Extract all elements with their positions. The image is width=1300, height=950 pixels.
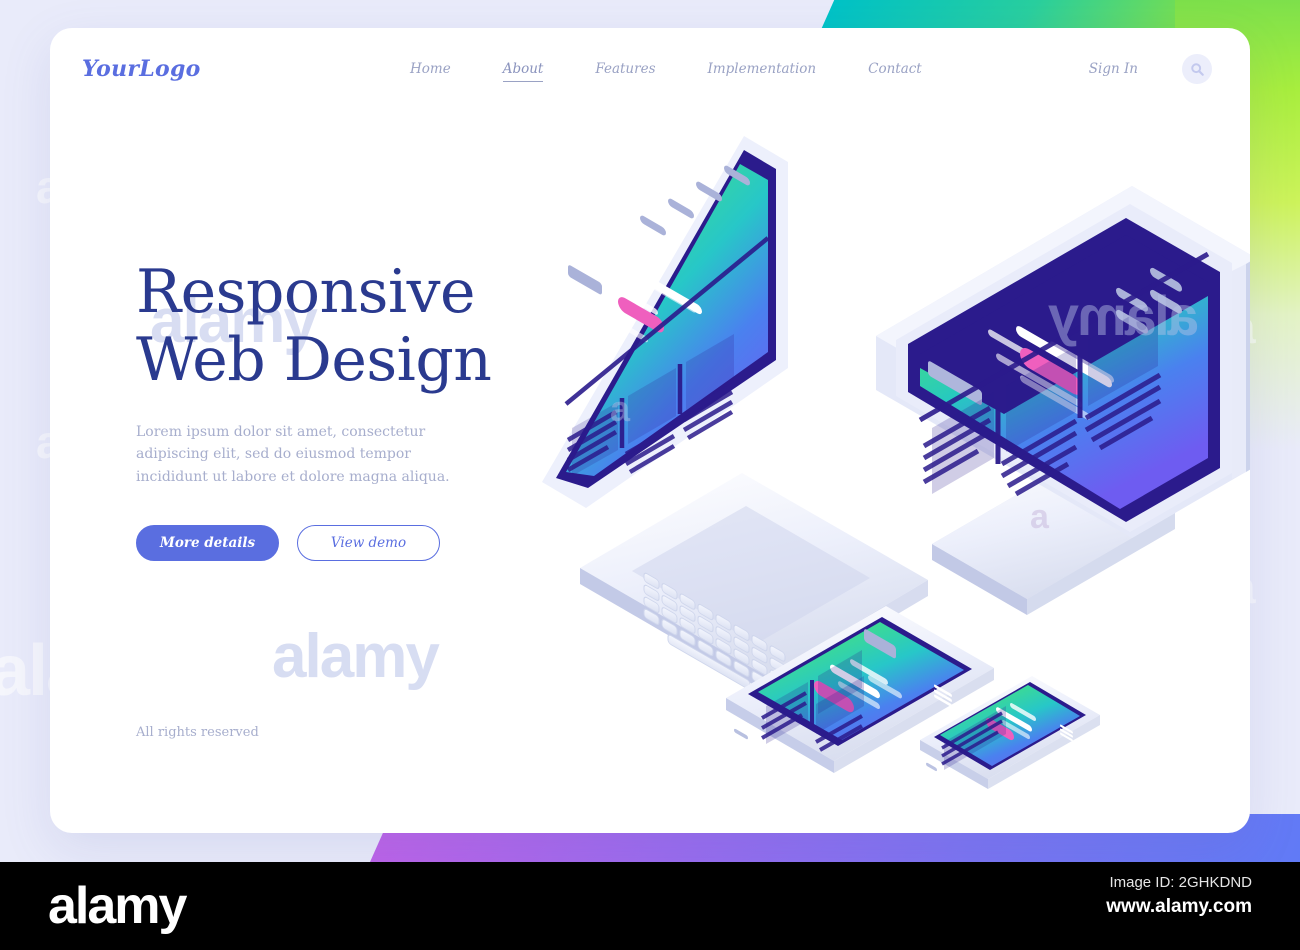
sign-in-link[interactable]: Sign In xyxy=(1089,61,1138,77)
nav-item-features[interactable]: Features xyxy=(595,57,655,81)
illustration-watermark: alamy xyxy=(272,621,438,692)
nav-item-implementation[interactable]: Implementation xyxy=(708,57,817,81)
page-title-line-2: Web Design xyxy=(136,325,491,395)
landing-page-card: YourLogo Home About Features Implementat… xyxy=(50,28,1250,833)
alamy-logo: alamy xyxy=(48,876,185,936)
nav-item-home[interactable]: Home xyxy=(410,57,451,81)
all-rights-reserved: All rights reserved xyxy=(136,725,259,740)
stock-photo-footer: alamy Image ID: 2GHKDND www.alamy.com xyxy=(0,862,1300,950)
desktop-monitor xyxy=(876,186,1250,616)
search-icon xyxy=(1190,62,1205,77)
isometric-devices-illustration xyxy=(520,128,1250,808)
hero-button-group: More details View demo xyxy=(136,525,556,561)
nav-item-about[interactable]: About xyxy=(503,57,544,82)
site-header: YourLogo Home About Features Implementat… xyxy=(50,28,1250,110)
main-navigation: Home About Features Implementation Conta… xyxy=(410,57,974,82)
site-logo[interactable]: YourLogo xyxy=(82,56,201,82)
page-title: Responsive Web Design xyxy=(136,258,556,395)
hero-section: Responsive Web Design Lorem ipsum dolor … xyxy=(136,258,556,561)
hero-paragraph: Lorem ipsum dolor sit amet, consectetur … xyxy=(136,421,476,489)
search-button[interactable] xyxy=(1182,54,1212,84)
page-title-line-1: Responsive xyxy=(136,257,475,327)
more-details-button[interactable]: More details xyxy=(136,525,279,561)
image-id-text: Image ID: 2GHKDND xyxy=(992,874,1252,891)
view-demo-button[interactable]: View demo xyxy=(297,525,440,561)
screenshot-stage: a a ala a a YourLogo Home About Features… xyxy=(0,0,1300,950)
laptop-lid xyxy=(540,136,792,512)
alamy-url: www.alamy.com xyxy=(992,896,1252,918)
nav-item-contact[interactable]: Contact xyxy=(868,57,922,81)
